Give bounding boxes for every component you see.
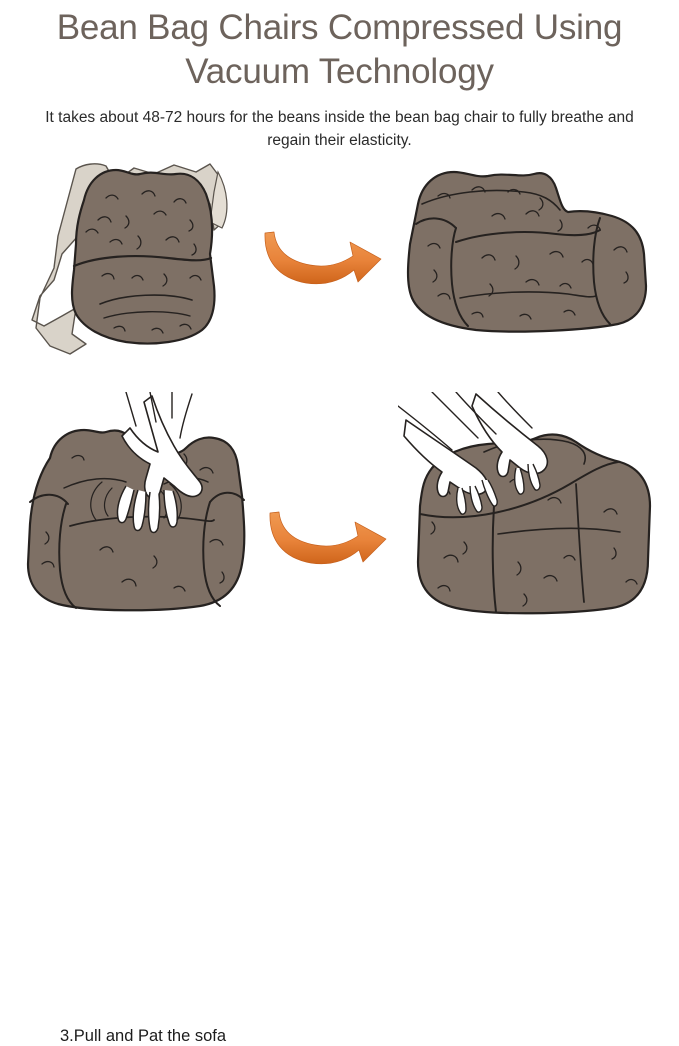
curved-arrow-icon-1: [262, 228, 384, 290]
compressed-sofa-body: [72, 170, 215, 344]
step-2: 2.Sofa wili be very wrinkled?: [392, 158, 672, 358]
page-title: Bean Bag Chairs Compressed Using Vacuum …: [0, 0, 679, 94]
step-4: 4.Press the sofa firmly: [398, 392, 672, 624]
two-hands-pressing-bean-bag-illustration: [398, 392, 672, 624]
wrinkled-bean-bag-illustration: [392, 158, 672, 358]
page-subtitle: It takes about 48-72 hours for the beans…: [40, 106, 640, 152]
header: Bean Bag Chairs Compressed Using Vacuum …: [0, 0, 679, 152]
curved-arrow-icon-2: [267, 508, 389, 570]
wrinkled-sofa-body: [408, 172, 646, 332]
step-3-caption: 3.Pull and Pat the sofa: [60, 1026, 226, 1046]
